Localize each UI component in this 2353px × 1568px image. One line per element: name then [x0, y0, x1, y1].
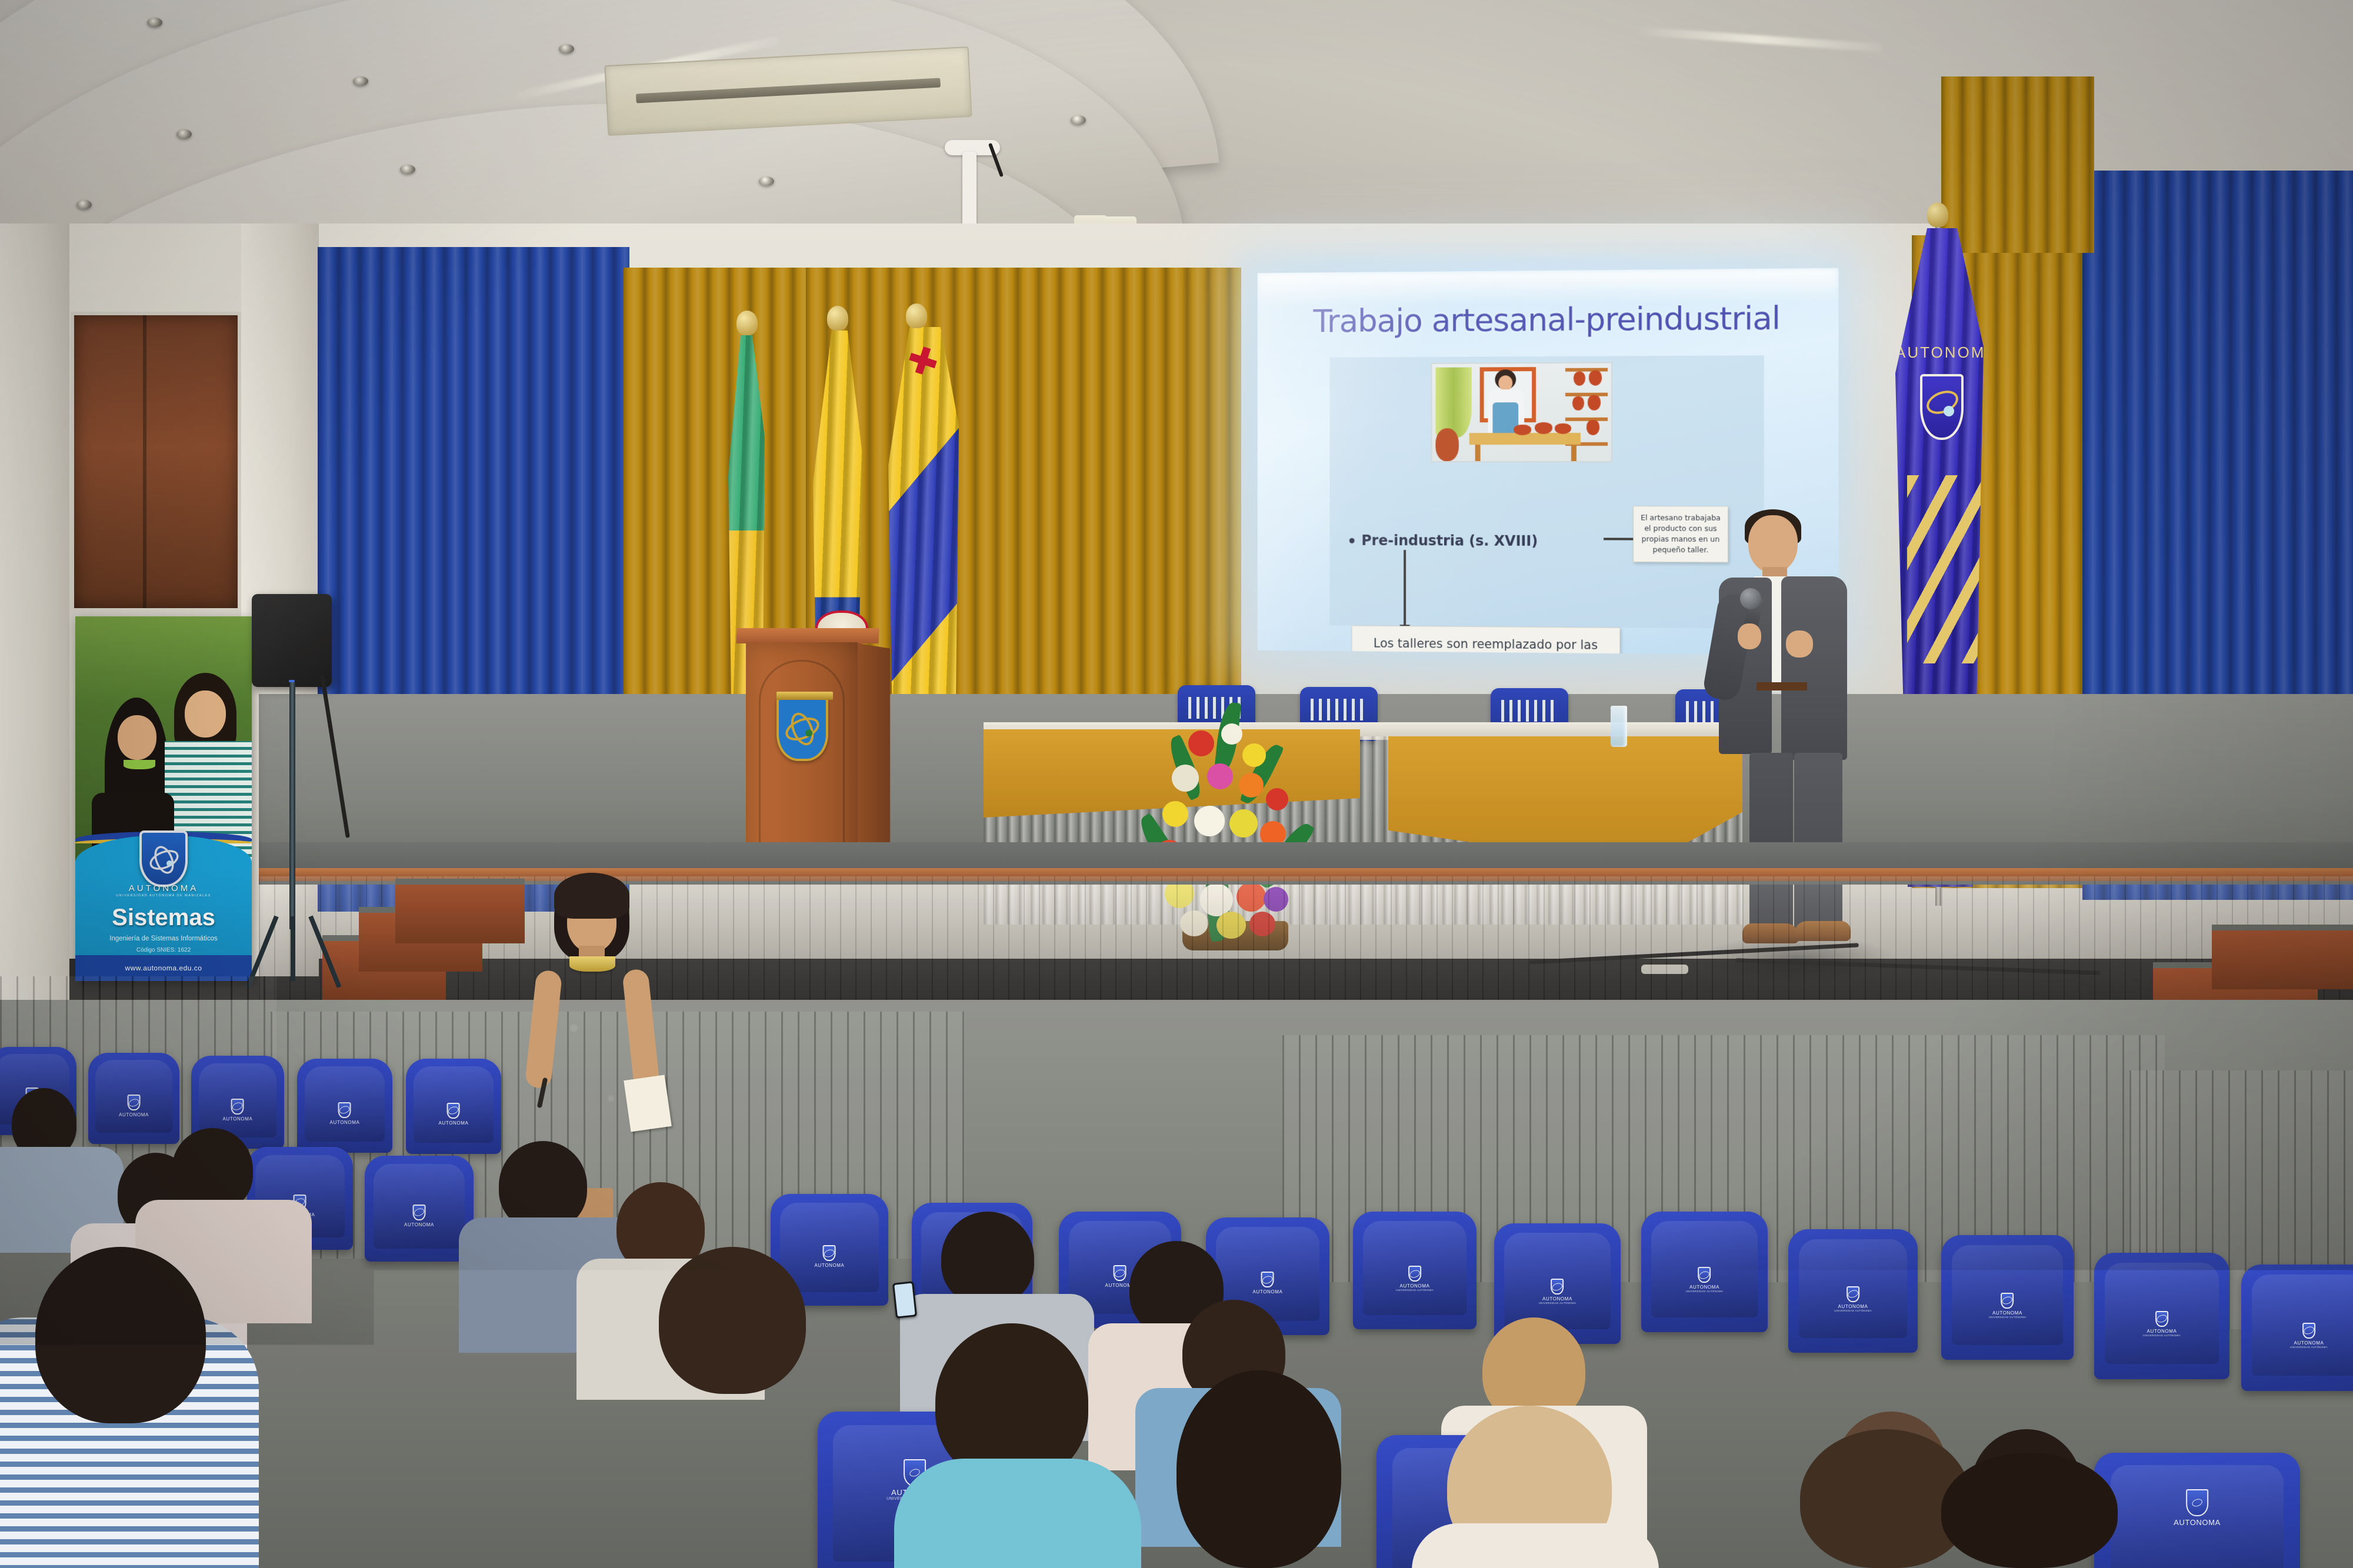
seat-crest-icon: [1551, 1279, 1564, 1295]
seat-logo-word: AUTONOMA: [1686, 1285, 1724, 1290]
seat-crest-icon: [823, 1245, 836, 1261]
moderator-hair-front: [554, 873, 629, 919]
audience-shoulders-front: [1412, 1523, 1659, 1568]
audience-seat[interactable]: AUTONOMA UNIVERSIDAD AUTÓNOMA: [1641, 1212, 1768, 1332]
audience-head-front: [447, 1376, 624, 1568]
audience-head-front: [1176, 1370, 1341, 1568]
wall-wood-panel: [71, 312, 241, 612]
audience-notebook: [782, 1357, 841, 1377]
seat-crest-icon: [412, 1205, 425, 1220]
ceiling-spotlight: [559, 44, 574, 54]
rollup-banner: AUTONOMA UNIVERSIDAD AUTÓNOMA DE MANIZAL…: [75, 616, 252, 981]
presenter-head: [1748, 515, 1798, 573]
seat-logo: AUTONOMA: [223, 1099, 253, 1122]
banner-brand: AUTONOMA: [75, 883, 252, 893]
seat-crest-icon: [447, 1103, 460, 1119]
wall-column-left: [0, 223, 69, 1000]
flower: [1239, 773, 1264, 798]
ceiling-spotlight: [147, 18, 162, 27]
flag-finial: [1927, 202, 1948, 227]
water-glass[interactable]: [1611, 706, 1627, 747]
seat-logo: AUTONOMA UNIVERSIDAD AUTÓNOMA: [2143, 1311, 2181, 1337]
crest-gold-bar: [776, 692, 833, 700]
flag-finial: [736, 311, 758, 335]
audience-shoulders-front: [618, 1376, 853, 1568]
banner-program-subtitle: Ingeniería de Sistemas Informáticos: [75, 935, 252, 942]
seat-crest-icon: [231, 1099, 244, 1115]
slide-bullet: Pre-industria (s. XVIII): [1349, 532, 1618, 550]
seat-logo-word: AUTONOMA: [330, 1120, 360, 1125]
seat-logo-word: AUTONOMA: [119, 1112, 149, 1117]
seat-logo-word: AUTONOMA: [1396, 1283, 1434, 1289]
smartphone[interactable]: [892, 1281, 917, 1318]
flag-brand-text: AUTONOMA: [1895, 343, 1984, 362]
seat-logo-word: AUTONOMA: [1539, 1296, 1577, 1302]
flower: [1242, 743, 1266, 767]
seat-logo-sub: UNIVERSIDAD AUTÓNOMA: [2143, 1334, 2181, 1337]
audience-head: [172, 1128, 253, 1212]
audience-seat[interactable]: AUTONOMA UNIVERSIDAD AUTÓNOMA: [1941, 1235, 2074, 1360]
seat-logo: AUTONOMA: [1253, 1272, 1283, 1295]
seat-crest-icon: [127, 1095, 140, 1110]
flower: [1266, 788, 1288, 810]
banner-program-title: Sistemas: [75, 905, 252, 931]
university-crest-podium: [776, 698, 828, 761]
seat-logo-sub: UNIVERSIDAD AUTÓNOMA: [1539, 1302, 1577, 1305]
seat-logo: AUTONOMA UNIVERSIDAD AUTÓNOMA: [1834, 1286, 1872, 1312]
seat-crest-icon: [1261, 1272, 1274, 1287]
presenter-belt: [1757, 682, 1807, 690]
slide-title: Trabajo artesanal-preindustrial: [1258, 299, 1839, 339]
flower: [1229, 809, 1258, 838]
papers[interactable]: [624, 1075, 672, 1132]
illustration-pot: [1588, 395, 1601, 411]
illustration-curtain: [1435, 368, 1471, 438]
microphone-head-icon: [1740, 588, 1761, 609]
moderator-necklace: [569, 956, 615, 972]
stage-step: [2212, 925, 2353, 989]
seat-crest-icon: [2302, 1323, 2315, 1339]
illustration-pot: [1555, 423, 1571, 434]
seat-logo: AUTONOMA: [2174, 1489, 2221, 1527]
flower: [1194, 806, 1225, 836]
ceiling-spotlight: [353, 76, 368, 86]
illustration-large-pot: [1435, 428, 1459, 461]
university-crest-banner: [139, 830, 188, 887]
banner-necklace: [124, 760, 155, 769]
ceiling-spotlight: [76, 200, 92, 209]
illustration-pot: [1587, 420, 1599, 435]
speaker-stand-leg: [291, 916, 295, 981]
slide-bullet-label: Pre-industria (s. XVIII): [1361, 532, 1538, 549]
audience-seat[interactable]: AUTONOMA: [88, 1053, 179, 1144]
banner-brand-sub: UNIVERSIDAD AUTÓNOMA DE MANIZALES: [75, 894, 252, 898]
podium-top: [736, 628, 879, 643]
auditorium-photo: Trabajo artesanal-preindustrial: [0, 0, 2353, 1568]
flower: [1172, 765, 1199, 792]
audience-seat[interactable]: AUTONOMA UNIVERSIDAD AUTÓNOMA: [2241, 1265, 2353, 1391]
seat-crest-icon: [1114, 1265, 1126, 1281]
ceiling-spotlight: [1071, 115, 1086, 125]
audience-seat[interactable]: AUTONOMA UNIVERSIDAD AUTÓNOMA: [1353, 1212, 1477, 1329]
audience-seat[interactable]: AUTONOMA UNIVERSIDAD AUTÓNOMA: [1788, 1229, 1918, 1353]
seat-logo-sub: UNIVERSIDAD AUTÓNOMA: [1834, 1309, 1872, 1312]
seat-logo-word: AUTONOMA: [404, 1222, 434, 1227]
bullet-dot-icon: [1349, 538, 1355, 543]
audience-head-front: [35, 1247, 206, 1423]
banner-snies-code: Código SNIES: 1622: [75, 947, 252, 953]
illustration-pot: [1535, 422, 1552, 434]
seat-logo-sub: UNIVERSIDAD AUTÓNOMA: [1686, 1290, 1724, 1293]
seat-logo-sub: UNIVERSIDAD AUTÓNOMA: [2290, 1346, 2328, 1349]
audience-seat[interactable]: AUTONOMA: [406, 1059, 501, 1154]
atom-icon: [783, 711, 822, 750]
flag-crest-atom-dot: [1944, 406, 1954, 416]
seat-logo-word: AUTONOMA: [1253, 1289, 1283, 1295]
seat-logo: AUTONOMA UNIVERSIDAD AUTÓNOMA: [1396, 1266, 1434, 1292]
illustration-artisan-face: [1498, 375, 1512, 391]
seat-crest-icon: [2186, 1489, 2208, 1516]
slide-body: Pre-industria (s. XVIII) El artesano tra…: [1330, 355, 1764, 629]
audience-head-front: [1941, 1453, 2118, 1568]
flower: [1188, 730, 1214, 756]
illustration-table-leg: [1475, 445, 1481, 462]
flower: [1207, 763, 1233, 789]
slide-callout-wide: Los talleres son reemplazado por las fab…: [1352, 626, 1620, 656]
seat-logo: AUTONOMA: [439, 1103, 469, 1126]
flag-finial: [906, 303, 927, 328]
banner-student-female-face: [118, 715, 156, 760]
audience-bag: [71, 1464, 224, 1568]
seat-logo: AUTONOMA: [815, 1245, 845, 1268]
seat-logo-sub: UNIVERSIDAD AUTÓNOMA: [1396, 1289, 1434, 1292]
illustration-pot: [1574, 372, 1585, 386]
seat-logo-sub: UNIVERSIDAD AUTÓNOMA: [1989, 1316, 2027, 1319]
audience-seat-front[interactable]: AUTONOMA: [2094, 1453, 2300, 1568]
seat-logo: AUTONOMA: [330, 1102, 360, 1125]
seat-logo: AUTONOMA UNIVERSIDAD AUTÓNOMA: [1539, 1279, 1577, 1305]
seat-logo-word: AUTONOMA: [1989, 1310, 2027, 1316]
pa-speaker: [252, 594, 332, 687]
audience-shoulders-front: [194, 1506, 465, 1568]
banner-student-male-face: [185, 690, 226, 738]
seat-logo: AUTONOMA UNIVERSIDAD AUTÓNOMA: [2290, 1323, 2328, 1349]
audience-seat[interactable]: AUTONOMA UNIVERSIDAD AUTÓNOMA: [2094, 1253, 2229, 1379]
seat-crest-icon: [2155, 1311, 2168, 1327]
seat-crest-icon: [1408, 1266, 1421, 1282]
presenter-jacket-right: [1781, 576, 1847, 760]
illustration-pot: [1589, 371, 1602, 386]
curtain-gold-far-right: [1941, 76, 2094, 253]
seat-crest-icon: [1847, 1286, 1859, 1302]
ceiling-spotlight: [759, 176, 774, 186]
ceiling-spotlight: [176, 129, 192, 139]
audience-seat[interactable]: AUTONOMA: [297, 1059, 392, 1153]
audience-shoulders-front: [894, 1459, 1141, 1568]
flower: [1162, 801, 1188, 827]
flag-finial: [827, 306, 848, 331]
seat-logo: AUTONOMA UNIVERSIDAD AUTÓNOMA: [1686, 1267, 1724, 1293]
banner-photo: [75, 616, 252, 863]
presenter-hand-right: [1786, 630, 1813, 658]
seat-logo-word: AUTONOMA: [2143, 1329, 2181, 1334]
seat-logo: AUTONOMA UNIVERSIDAD AUTÓNOMA: [1989, 1293, 2027, 1319]
audience-head: [941, 1212, 1034, 1306]
speaker-stand-pole: [289, 682, 295, 929]
seat-logo-word: AUTONOMA: [2290, 1340, 2328, 1346]
seat-logo: AUTONOMA: [404, 1205, 434, 1227]
seat-logo-word: AUTONOMA: [223, 1116, 253, 1122]
artisan-illustration: [1431, 362, 1612, 462]
illustration-table-leg: [1571, 445, 1577, 462]
audience-seat[interactable]: AUTONOMA: [365, 1156, 474, 1262]
seat-logo: AUTONOMA: [119, 1095, 149, 1117]
arrow-down-icon: [1404, 550, 1406, 626]
seat-crest-icon: [1698, 1267, 1711, 1283]
seat-crest-icon: [2001, 1293, 2014, 1309]
podium-side-panel: [856, 643, 890, 865]
seat-logo-word: AUTONOMA: [1834, 1304, 1872, 1309]
presenter-hand-left: [1738, 623, 1761, 649]
flower: [1221, 723, 1242, 745]
stage-step: [395, 879, 525, 943]
seat-logo-word: AUTONOMA: [815, 1263, 845, 1268]
seat-logo-word: AUTONOMA: [2174, 1518, 2221, 1527]
ceiling-spotlight: [400, 165, 415, 174]
illustration-pot: [1572, 396, 1584, 411]
illustration-pot: [1514, 425, 1531, 435]
seat-logo-word: AUTONOMA: [439, 1120, 469, 1126]
seat-crest-icon: [338, 1102, 351, 1118]
